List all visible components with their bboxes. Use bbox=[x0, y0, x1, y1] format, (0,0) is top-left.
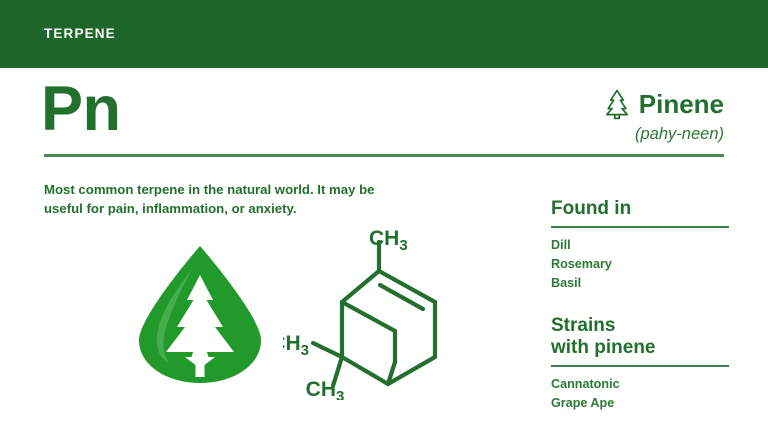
terpene-name-block: Pinene (pahy-neen) bbox=[604, 88, 724, 143]
terpene-pronunciation: (pahy-neen) bbox=[604, 126, 724, 143]
terpene-name: Pinene bbox=[639, 91, 724, 117]
right-info-column: Found in Dill Rosemary Basil Strains wit… bbox=[551, 198, 729, 413]
list-item: Cannatonic bbox=[551, 375, 729, 394]
strains-title-line1: Strains bbox=[551, 315, 729, 337]
terpene-description: Most common terpene in the natural world… bbox=[44, 180, 394, 218]
main-divider bbox=[44, 154, 724, 157]
pine-tree-outline-icon bbox=[604, 88, 630, 120]
found-in-section: Found in Dill Rosemary Basil bbox=[551, 198, 729, 293]
alpha-pinene-structure: CH3 CH3 CH3 bbox=[283, 228, 463, 400]
methyl-label-bottom: CH3 bbox=[306, 378, 345, 400]
found-in-title: Found in bbox=[551, 198, 729, 220]
strains-title-line2: with pinene bbox=[551, 337, 729, 359]
terpene-symbol: Pn bbox=[41, 78, 121, 141]
list-item: Grape Ape bbox=[551, 394, 729, 413]
list-item: Dill bbox=[551, 236, 729, 255]
category-label: TERPENE bbox=[44, 27, 116, 41]
droplet-with-pine-tree-icon bbox=[133, 244, 267, 386]
strains-section: Strains with pinene Cannatonic Grape Ape bbox=[551, 315, 729, 413]
list-item: Basil bbox=[551, 274, 729, 293]
found-in-divider bbox=[551, 226, 729, 228]
terpene-info-card: TERPENE Pn Pinene (pahy-neen) Most commo… bbox=[0, 0, 768, 432]
methyl-label-top: CH3 bbox=[369, 228, 408, 254]
methyl-label-left: CH3 bbox=[283, 332, 309, 359]
strains-list: Cannatonic Grape Ape bbox=[551, 375, 729, 413]
terpene-name-row: Pinene bbox=[604, 88, 724, 120]
strains-divider bbox=[551, 365, 729, 367]
list-item: Rosemary bbox=[551, 255, 729, 274]
found-in-list: Dill Rosemary Basil bbox=[551, 236, 729, 293]
